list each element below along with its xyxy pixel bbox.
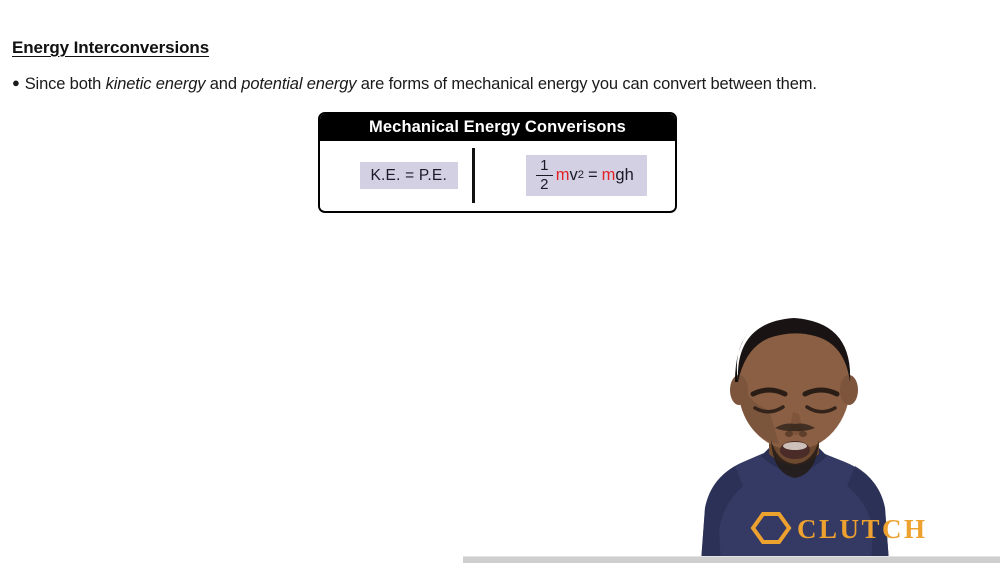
formula-ke-equals-pe: K.E. = P.E. [360, 162, 458, 189]
symbol-mass-1: m [556, 166, 570, 184]
fraction-denominator: 2 [536, 177, 552, 193]
table-cell-kinetic-formula: 1 2 mv2=mgh [498, 141, 676, 210]
symbol-velocity: v [570, 166, 578, 184]
symbol-mass-2: m [602, 166, 616, 184]
formula-half-mv-squared-equals-mgh: 1 2 mv2=mgh [526, 155, 647, 197]
mechanical-energy-table: Mechanical Energy Converisons K.E. = P.E… [318, 112, 677, 213]
bullet-point-text: ●Since both kinetic energy and potential… [12, 75, 817, 94]
table-body: K.E. = P.E. 1 2 mv2=mgh [320, 141, 675, 210]
fraction-numerator: 1 [536, 158, 552, 174]
table-header: Mechanical Energy Converisons [320, 114, 675, 141]
term-kinetic-energy: kinetic energy [106, 75, 206, 93]
bullet-text-part1: Since both [25, 75, 106, 93]
symbol-gravity-height: gh [615, 166, 633, 184]
exponent-two: 2 [578, 169, 584, 181]
fraction-one-half: 1 2 [536, 158, 553, 194]
instructor-illustration: CLUTCH [583, 290, 1000, 562]
term-potential-energy: potential energy [241, 75, 356, 93]
page-title: Energy Interconversions [12, 38, 209, 58]
operator-equals: = [588, 166, 598, 184]
table-column-divider [472, 148, 475, 203]
bullet-text-part2: and [205, 75, 241, 93]
instructor-video-overlay[interactable]: CLUTCH [583, 290, 1000, 562]
bullet-text-part3: are forms of mechanical energy you can c… [356, 75, 816, 93]
clutch-wordmark: CLUTCH [797, 514, 928, 544]
bullet-marker-icon: ● [12, 75, 20, 90]
table-cell-ke-pe: K.E. = P.E. [320, 141, 498, 210]
